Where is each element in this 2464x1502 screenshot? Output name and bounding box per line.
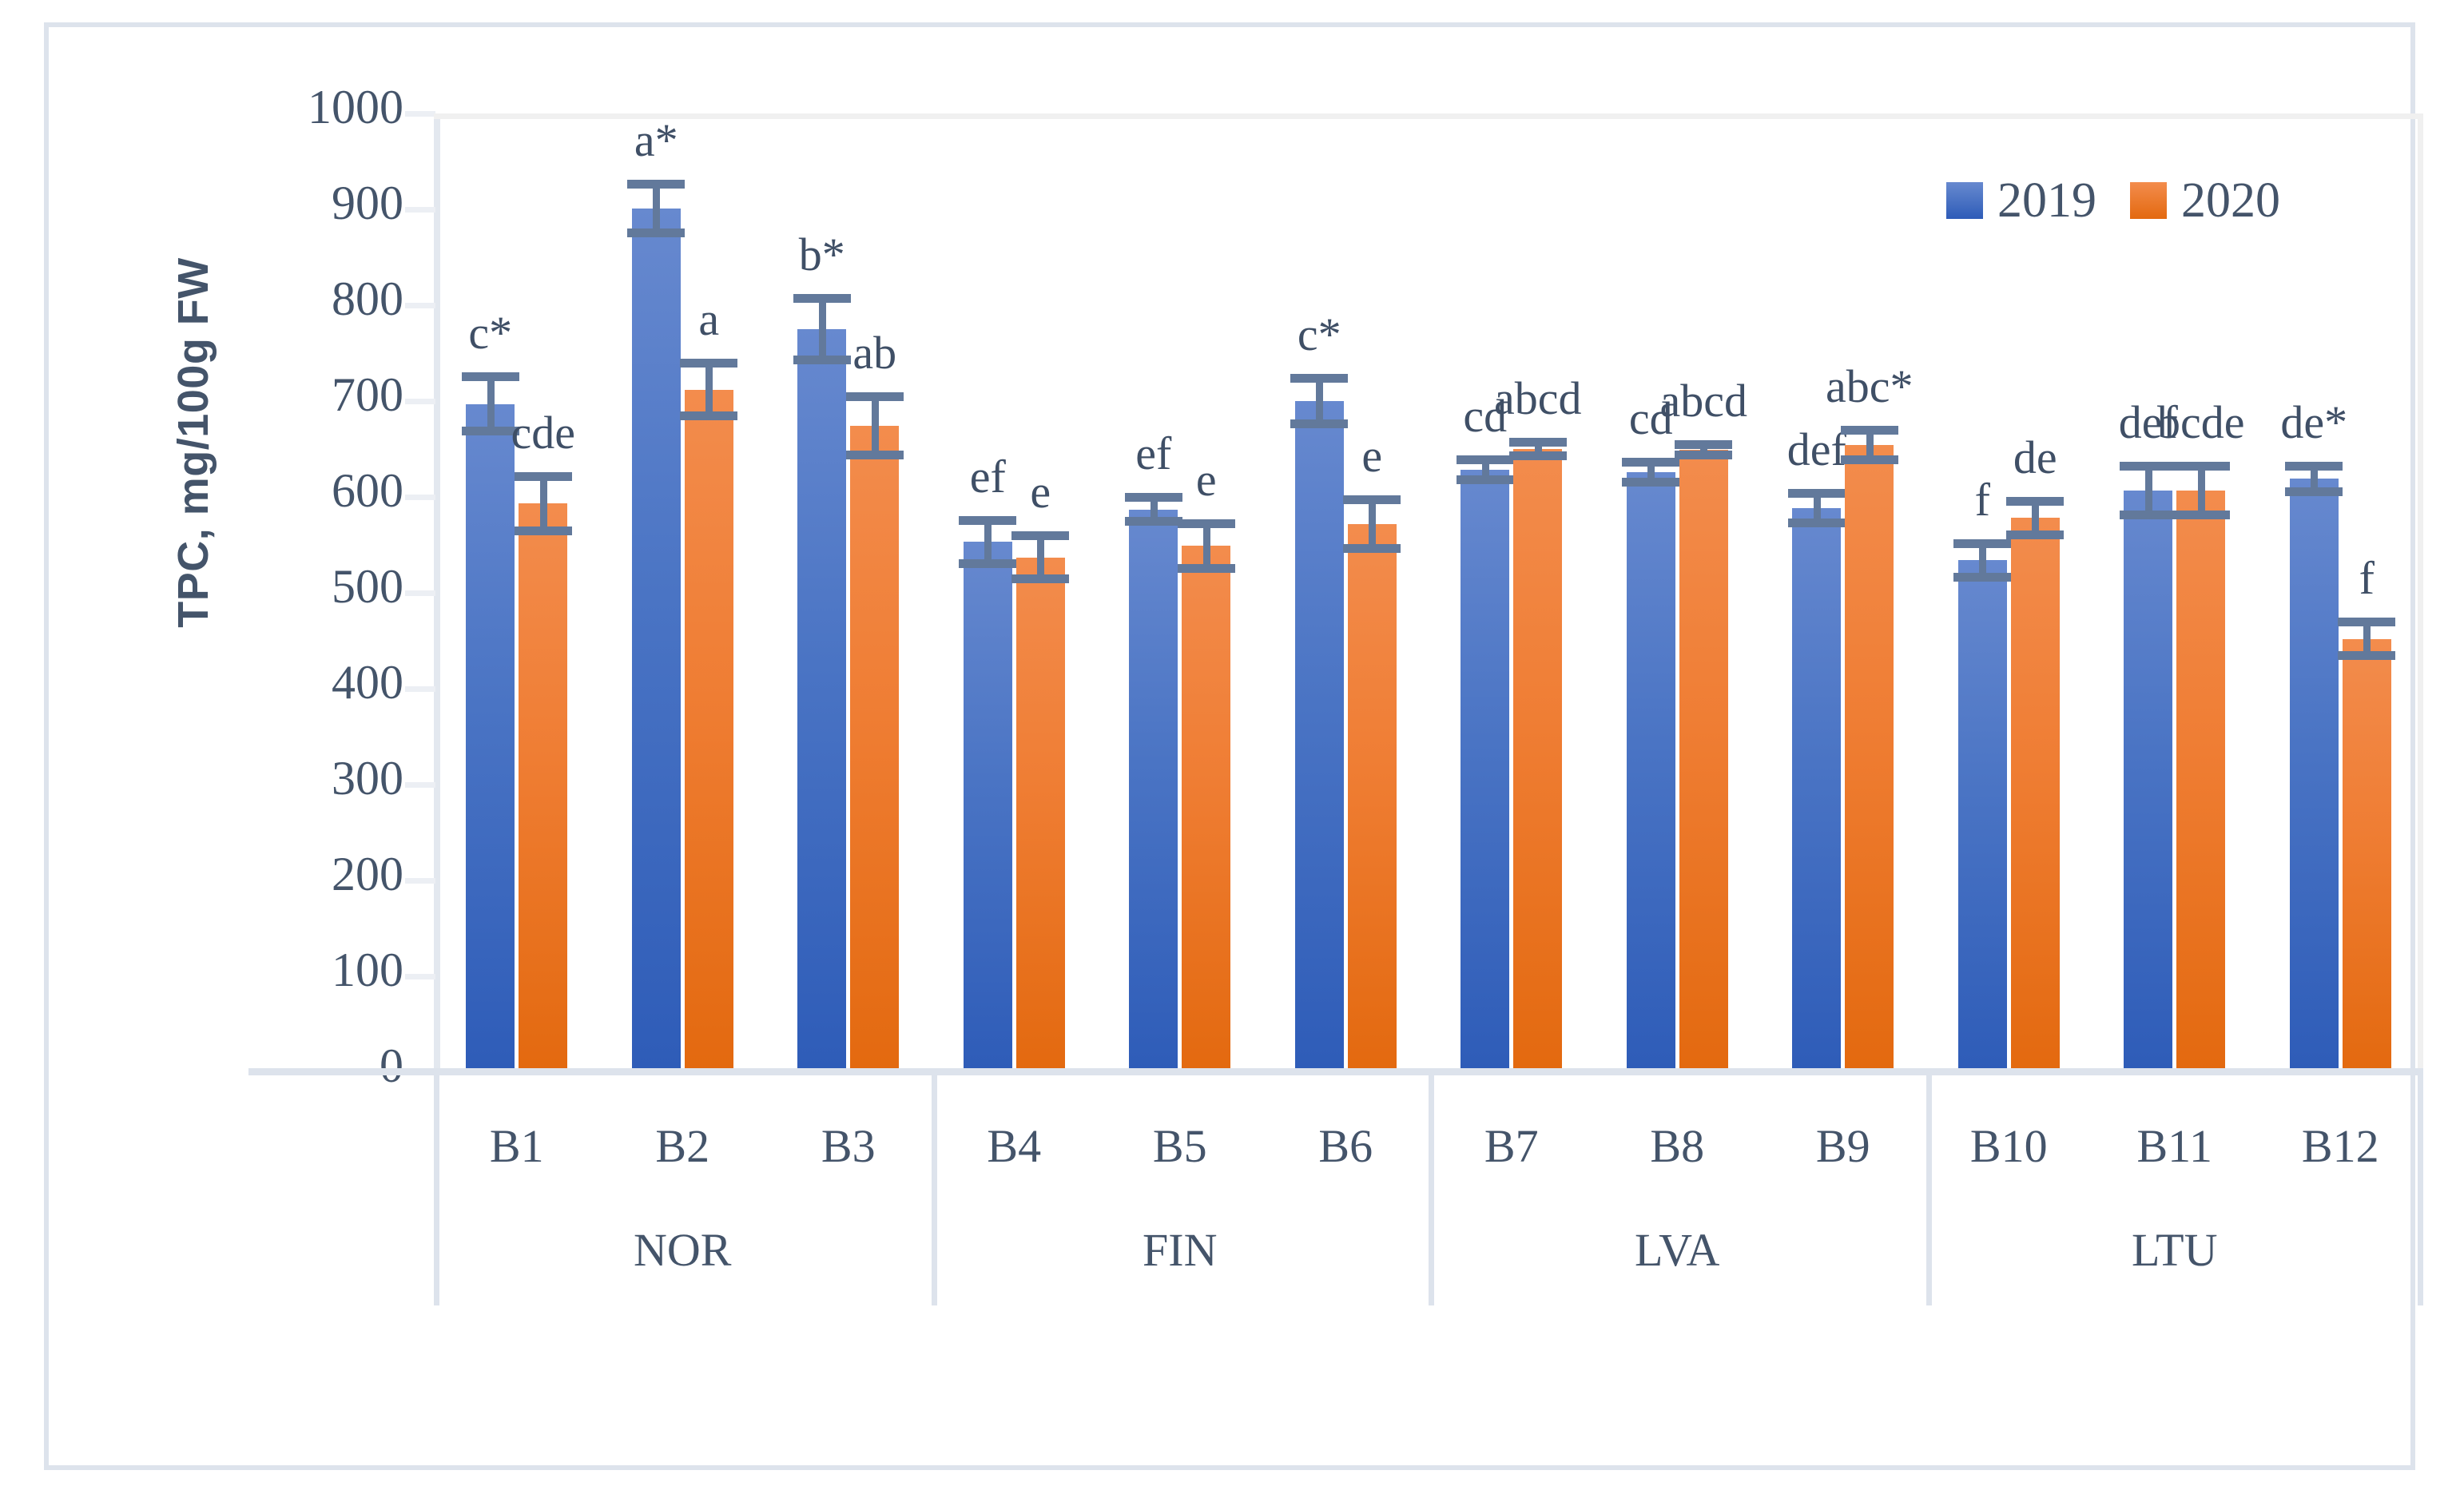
error-bar-cap-bottom	[1457, 475, 1514, 484]
category-label-B1: B1	[490, 1123, 544, 1170]
error-bar-cap-bottom	[2338, 651, 2395, 660]
significance-label-B10-2020: de	[2013, 435, 2057, 481]
bars-layer: c*a*b*efefc*cdcddeffdefde*cdeaabeeeabcda…	[434, 113, 2423, 1072]
legend-entry-2020[interactable]: 2020	[2130, 176, 2280, 225]
category-label-B3: B3	[821, 1123, 876, 1170]
error-bar-cap-bottom	[959, 559, 1016, 568]
significance-label-B6-2019: c*	[1298, 312, 1341, 358]
error-bar-cap-bottom	[1178, 564, 1235, 573]
error-bar-cap-bottom	[2172, 511, 2230, 519]
error-bar-cap-bottom	[1011, 574, 1069, 583]
y-axis-tick-mark	[405, 207, 435, 213]
bar-B9-2020	[1845, 445, 1894, 1072]
group-separator	[1926, 1075, 1932, 1305]
significance-label-B9-2020: abc*	[1826, 364, 1914, 410]
category-axis-edge	[434, 1075, 439, 1305]
error-bar-cap-top	[2172, 462, 2230, 471]
error-bar-cap-top	[1457, 455, 1514, 464]
bar-B6-2019	[1295, 401, 1344, 1072]
bar-B11-2020	[2176, 491, 2225, 1072]
category-label-B11: B11	[2136, 1123, 2212, 1170]
y-axis-tick-mark	[405, 590, 435, 596]
figure-frame: TPC, mg/100g FW 100090080070060050040030…	[44, 22, 2415, 1470]
error-bar-cap-top	[1675, 440, 1732, 449]
error-bar-cap-top	[2338, 618, 2395, 626]
bar-B3-2019	[797, 329, 846, 1072]
significance-label-B8-2020: abcd	[1660, 378, 1748, 424]
y-axis-tick-mark	[405, 878, 435, 884]
significance-label-B2-2020: a	[698, 296, 719, 343]
bar-B10-2020	[2011, 518, 2060, 1072]
category-axis: B1B2B3B4B5B6B7B8B9B10B11B12NORFINLVALTU	[434, 1075, 2423, 1307]
y-axis-tick-label: 800	[244, 275, 403, 323]
error-bar-cap-top	[959, 516, 1016, 525]
group-separator	[1429, 1075, 1434, 1305]
error-bar-cap-bottom	[1290, 419, 1348, 428]
bar-B11-2019	[2124, 491, 2172, 1072]
bar-B5-2019	[1129, 510, 1178, 1072]
y-axis-tick-mark	[405, 782, 435, 788]
error-bar-cap-bottom	[2285, 487, 2343, 496]
y-axis-tick-mark	[405, 974, 435, 979]
error-bar-cap-bottom	[2006, 530, 2064, 539]
significance-label-B4-2019: ef	[970, 454, 1006, 500]
bar-B2-2020	[685, 390, 733, 1072]
category-label-B2: B2	[655, 1123, 709, 1170]
y-axis-title-text: TPC, mg/100g FW	[169, 0, 218, 922]
chart-legend: 20192020	[1946, 176, 2280, 225]
significance-label-B12-2020: f	[2359, 555, 2375, 602]
bar-B5-2020	[1182, 546, 1230, 1072]
legend-entry-2019[interactable]: 2019	[1946, 176, 2096, 225]
error-bar-cap-top	[793, 294, 851, 303]
category-label-B5: B5	[1153, 1123, 1207, 1170]
error-bar-cap-bottom	[515, 526, 572, 535]
error-bar-cap-top	[1011, 531, 1069, 540]
error-bar-cap-top	[1290, 374, 1348, 383]
country-group-label-NOR: NOR	[634, 1227, 731, 1274]
error-bar-cap-top	[1841, 426, 1898, 435]
error-bar-cap-bottom	[1953, 573, 2011, 582]
error-bar-cap-top	[2285, 462, 2343, 471]
bar-B8-2020	[1679, 450, 1728, 1072]
error-bar-cap-bottom	[1788, 519, 1846, 527]
y-axis-tick-label: 300	[244, 754, 403, 802]
significance-label-B10-2019: f	[1975, 477, 1990, 523]
significance-label-B9-2019: def	[1787, 427, 1846, 473]
bar-B4-2020	[1016, 558, 1065, 1072]
error-bar-cap-top	[1788, 489, 1846, 498]
error-bar-cap-bottom	[1125, 517, 1182, 526]
legend-label: 2019	[1997, 176, 2096, 225]
error-bar-cap-top	[1178, 519, 1235, 528]
error-bar-cap-bottom	[1675, 451, 1732, 459]
legend-swatch-icon	[2130, 182, 2167, 219]
error-bar-cap-top	[1125, 493, 1182, 502]
category-axis-edge	[2418, 1075, 2423, 1305]
y-axis-tick-label: 400	[244, 658, 403, 706]
error-bar-cap-top	[627, 180, 685, 189]
error-bar-cap-top	[2006, 497, 2064, 506]
error-bar-cap-top	[846, 392, 904, 401]
error-bar-stem	[872, 392, 879, 459]
bar-B7-2019	[1461, 470, 1509, 1072]
country-group-label-FIN: FIN	[1143, 1227, 1217, 1274]
significance-label-B11-2020: bcde	[2157, 399, 2245, 446]
error-bar-cap-bottom	[846, 451, 904, 459]
bar-B1-2019	[466, 404, 515, 1072]
y-axis-tick-label: 600	[244, 467, 403, 515]
error-bar-cap-bottom	[2120, 511, 2177, 519]
error-bar-cap-bottom	[1509, 451, 1567, 460]
category-label-B12: B12	[2302, 1123, 2379, 1170]
bar-B3-2020	[850, 426, 899, 1072]
legend-label: 2020	[2181, 176, 2280, 225]
error-bar-cap-top	[1953, 539, 2011, 548]
category-label-B10: B10	[1970, 1123, 2048, 1170]
error-bar-cap-top	[1622, 458, 1679, 467]
error-bar-stem	[819, 294, 826, 365]
error-bar-cap-bottom	[1343, 544, 1401, 553]
category-label-B4: B4	[987, 1123, 1041, 1170]
error-bar-cap-top	[1509, 438, 1567, 447]
y-axis-tick-mark	[405, 111, 435, 117]
y-axis-tick-label: 100	[244, 946, 403, 994]
category-label-B8: B8	[1650, 1123, 1704, 1170]
country-group-label-LVA: LVA	[1635, 1227, 1719, 1274]
significance-label-B3-2020: ab	[852, 330, 896, 376]
bar-B12-2019	[2290, 479, 2339, 1072]
significance-label-B4-2020: e	[1030, 469, 1051, 515]
category-label-B7: B7	[1484, 1123, 1539, 1170]
group-separator	[932, 1075, 937, 1305]
y-axis-tick-label: 1000	[244, 83, 403, 131]
bar-B2-2019	[632, 209, 681, 1072]
y-axis-tick-mark	[405, 399, 435, 404]
error-bar-cap-bottom	[680, 411, 737, 420]
category-label-B6: B6	[1318, 1123, 1373, 1170]
y-axis-tick-label: 500	[244, 562, 403, 610]
country-group-label-LTU: LTU	[2132, 1227, 2217, 1274]
y-axis-tick-mark	[405, 303, 435, 308]
bar-B7-2020	[1513, 449, 1562, 1072]
bar-B9-2019	[1792, 508, 1841, 1072]
significance-label-B1-2019: c*	[468, 310, 512, 356]
bar-B8-2019	[1627, 472, 1675, 1072]
significance-label-B12-2019: de*	[2280, 399, 2347, 446]
bar-B4-2019	[964, 542, 1012, 1072]
error-bar-cap-bottom	[1622, 478, 1679, 487]
significance-label-B3-2019: b*	[799, 232, 845, 278]
error-bar-cap-top	[515, 472, 572, 481]
error-bar-cap-top	[680, 359, 737, 368]
significance-label-B6-2020: e	[1361, 433, 1382, 479]
significance-label-B7-2020: abcd	[1494, 375, 1582, 422]
error-bar-cap-top	[2120, 462, 2177, 471]
bar-B12-2020	[2343, 639, 2391, 1072]
bar-B1-2020	[519, 503, 567, 1072]
bar-B10-2019	[1958, 560, 2007, 1072]
bar-B6-2020	[1348, 524, 1397, 1072]
significance-label-B2-2019: a*	[634, 117, 678, 164]
error-bar-cap-bottom	[1841, 455, 1898, 464]
significance-label-B5-2020: e	[1196, 457, 1217, 503]
y-axis-tick-label: 200	[244, 850, 403, 898]
y-axis-tick-mark	[405, 495, 435, 500]
category-label-B9: B9	[1816, 1123, 1870, 1170]
error-bar-cap-bottom	[793, 356, 851, 364]
error-bar-cap-top	[462, 372, 519, 381]
y-axis-tick-labels: 10009008007006005004003002001000	[248, 107, 424, 1074]
error-bar-cap-top	[1343, 495, 1401, 504]
significance-label-B5-2019: ef	[1135, 431, 1171, 477]
y-axis-tick-label: 700	[244, 371, 403, 419]
y-axis-tick-label: 900	[244, 179, 403, 227]
significance-label-B1-2020: cde	[511, 410, 576, 456]
y-axis-tick-label: 0	[244, 1042, 403, 1090]
y-axis-tick-mark	[405, 686, 435, 692]
x-axis-line	[248, 1068, 2423, 1075]
error-bar-cap-bottom	[627, 228, 685, 237]
legend-swatch-icon	[1946, 182, 1983, 219]
